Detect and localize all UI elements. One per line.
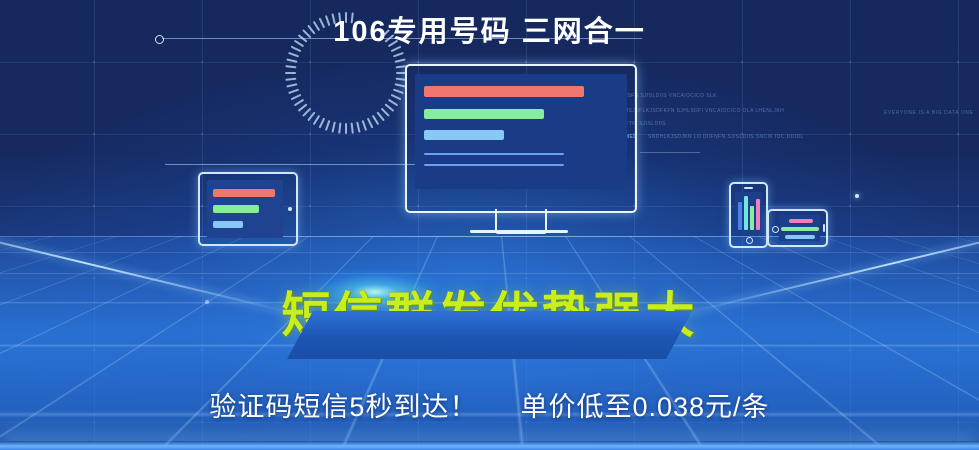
monitor-line xyxy=(424,153,564,155)
connector-line-right xyxy=(640,152,700,153)
phone-vbar-cyan xyxy=(744,196,748,230)
floor-horizon-line xyxy=(0,236,979,237)
phone-hbar-blue xyxy=(785,235,815,239)
tablet-device xyxy=(198,172,298,246)
tagline-row: 验证码短信5秒到达！ 单价低至0.038元/条 xyxy=(0,385,979,424)
glow-dot xyxy=(855,194,859,198)
phone-vbar-blue xyxy=(738,202,742,230)
phone-landscape-device xyxy=(767,209,828,247)
phone-vbar-green xyxy=(750,206,754,230)
phone-hbar-green xyxy=(781,227,819,231)
ribbon-banner-text: 106专用号码 三网合一 xyxy=(0,8,979,50)
phone-landscape-screen xyxy=(779,215,820,241)
sms-marketing-banner: AIDINSFN SJISLDIIS VNCAIOCICO SLK SJHDLK… xyxy=(0,0,979,450)
phone-home-button-icon xyxy=(746,237,753,244)
tablet-bar-green xyxy=(213,205,259,213)
phone-vbar-pink xyxy=(756,199,760,230)
tablet-bar-red xyxy=(213,189,275,197)
tablet-home-button-icon xyxy=(288,207,292,211)
monitor-line xyxy=(424,164,564,166)
phone-speaker-icon xyxy=(744,187,753,189)
decor-microtext: SNDHLKJSDJKN LO DIIFNFN SJISLDIIS SNCIK … xyxy=(648,133,804,142)
monitor-bar-red xyxy=(424,86,584,97)
decor-far-label: EVERYONE IS A BIG DATA ONE xyxy=(884,110,974,116)
bottom-glow-strip xyxy=(0,441,979,450)
phone-home-button-icon xyxy=(772,226,779,233)
tablet-screen xyxy=(207,180,283,238)
monitor-bar-blue xyxy=(424,130,504,140)
phone-hbar-pink xyxy=(789,219,813,223)
monitor-screen xyxy=(415,74,627,189)
ribbon-banner xyxy=(287,311,692,359)
phone-portrait-screen xyxy=(735,192,762,236)
tagline-left: 验证码短信5秒到达！ xyxy=(209,385,477,424)
tablet-bar-blue xyxy=(213,221,243,228)
desktop-monitor xyxy=(405,64,637,213)
phone-speaker-icon xyxy=(823,224,825,232)
monitor-bar-green xyxy=(424,109,544,119)
monitor-stand-base xyxy=(470,230,568,233)
phone-portrait-device xyxy=(729,182,768,248)
tagline-right: 单价低至0.038元/条 xyxy=(520,385,769,424)
